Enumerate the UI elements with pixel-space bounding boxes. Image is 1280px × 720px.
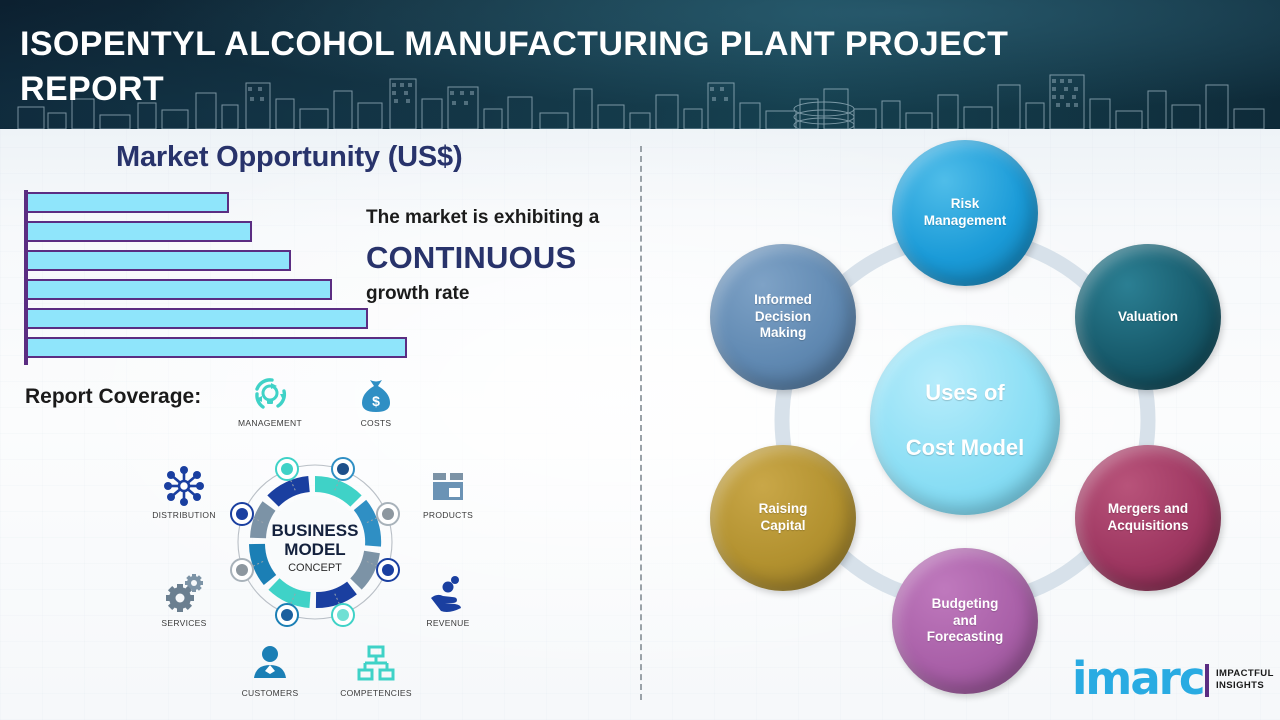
bm-icon-products: PRODUCTS bbox=[402, 464, 494, 520]
box-package-icon bbox=[402, 464, 494, 508]
bm-icon-revenue: REVENUE bbox=[402, 572, 494, 628]
bm-icon-customers: CUSTOMERS bbox=[224, 642, 316, 698]
bm-label-revenue: REVENUE bbox=[402, 618, 494, 628]
market-statement-highlight: CONTINUOUS bbox=[366, 240, 576, 276]
node-budgeting-forecasting[interactable]: BudgetingandForecasting bbox=[892, 548, 1038, 694]
node-raising-capital[interactable]: RaisingCapital bbox=[710, 445, 856, 591]
svg-text:MODEL: MODEL bbox=[284, 540, 345, 559]
market-statement-line-3: growth rate bbox=[366, 283, 469, 305]
bm-label-products: PRODUCTS bbox=[402, 510, 494, 520]
node-center-uses-of-cost-model: Uses ofCost Model bbox=[870, 325, 1060, 515]
org-chart-icon bbox=[330, 642, 422, 686]
bm-label-management: MANAGEMENT bbox=[224, 418, 316, 428]
chart-bar bbox=[26, 279, 332, 300]
imarc-logo: imarc IMPACTFUL INSIGHTS bbox=[1072, 656, 1272, 704]
bm-icon-competencies: COMPETENCIES bbox=[330, 642, 422, 698]
node-valuation[interactable]: Valuation bbox=[1075, 244, 1221, 390]
market-opportunity-title: Market Opportunity (US$) bbox=[116, 141, 462, 174]
market-statement-line-1: The market is exhibiting a bbox=[366, 205, 636, 231]
recycle-bulb-icon bbox=[224, 372, 316, 416]
chart-bar bbox=[26, 308, 368, 329]
node-risk-management[interactable]: RiskManagement bbox=[892, 140, 1038, 286]
bm-icon-distribution: DISTRIBUTION bbox=[138, 464, 230, 520]
bm-label-services: SERVICES bbox=[138, 618, 230, 628]
hand-coins-icon bbox=[402, 572, 494, 616]
person-icon bbox=[224, 642, 316, 686]
bm-icon-services: SERVICES bbox=[138, 572, 230, 628]
money-bag-icon: $ bbox=[330, 372, 422, 416]
logo-tagline-line2: INSIGHTS bbox=[1216, 680, 1264, 691]
market-opportunity-bar-chart bbox=[24, 190, 424, 365]
chart-bar bbox=[26, 250, 291, 271]
page-title: ISOPENTYL ALCOHOL MANUFACTURING PLANT PR… bbox=[20, 22, 1060, 112]
bm-icon-costs: $ COSTS bbox=[330, 372, 422, 428]
chart-bar bbox=[26, 337, 407, 358]
svg-text:CONCEPT: CONCEPT bbox=[288, 562, 342, 574]
bm-label-costs: COSTS bbox=[330, 418, 422, 428]
logo-tagline: IMPACTFUL INSIGHTS bbox=[1216, 668, 1274, 692]
uses-of-cost-model-diagram: Uses ofCost Model RiskManagement Valuati… bbox=[660, 130, 1280, 720]
bm-label-competencies: COMPETENCIES bbox=[330, 688, 422, 698]
logo-wordmark: imarc bbox=[1072, 656, 1204, 702]
node-informed-decision-making[interactable]: InformedDecisionMaking bbox=[710, 244, 856, 390]
svg-text:$: $ bbox=[372, 393, 380, 409]
gears-icon bbox=[138, 572, 230, 616]
chart-bar bbox=[26, 221, 252, 242]
slide-root: ISOPENTYL ALCOHOL MANUFACTURING PLANT PR… bbox=[0, 0, 1280, 720]
vertical-dashed-divider bbox=[640, 146, 642, 700]
bm-label-distribution: DISTRIBUTION bbox=[138, 510, 230, 520]
bm-icon-management: MANAGEMENT bbox=[224, 372, 316, 428]
node-mergers-acquisitions[interactable]: Mergers andAcquisitions bbox=[1075, 445, 1221, 591]
slide-header: ISOPENTYL ALCOHOL MANUFACTURING PLANT PR… bbox=[0, 0, 1280, 129]
business-model-diagram: BUSINESS MODEL CONCEPT MANAGEMENT $ bbox=[150, 380, 480, 710]
logo-divider bbox=[1205, 664, 1209, 697]
svg-text:BUSINESS: BUSINESS bbox=[272, 521, 359, 540]
chart-bar bbox=[26, 192, 229, 213]
bm-label-customers: CUSTOMERS bbox=[224, 688, 316, 698]
logo-tagline-line1: IMPACTFUL bbox=[1216, 668, 1274, 679]
network-nodes-icon bbox=[138, 464, 230, 508]
